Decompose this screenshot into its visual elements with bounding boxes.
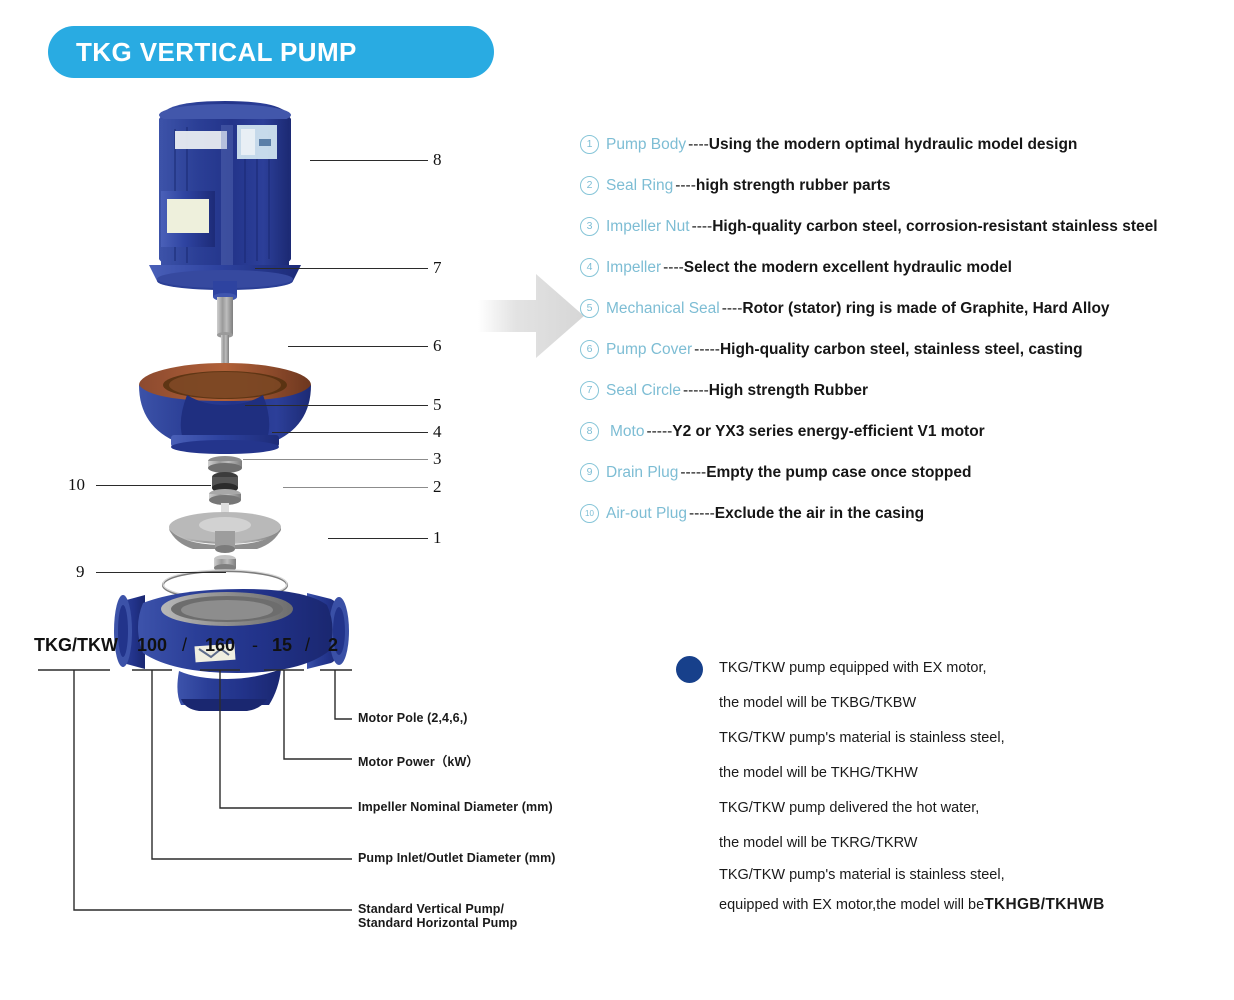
legend-item-1: 1 Pump Body ---- Using the modern optima… bbox=[580, 124, 1230, 165]
leader-line-9 bbox=[96, 572, 226, 573]
legend-part-desc: High strength Rubber bbox=[709, 382, 868, 400]
note-line-2: the model will be TKBG/TKBW bbox=[719, 685, 1216, 720]
legend-dashes: ---- bbox=[663, 259, 684, 277]
right-arrow-icon bbox=[478, 262, 588, 370]
legend-number-icon: 8 bbox=[580, 422, 599, 441]
nomenclature-leader-lines bbox=[0, 625, 620, 965]
poster-canvas: TKG VERTICAL PUMP bbox=[0, 0, 1234, 1000]
leader-line-3 bbox=[243, 459, 428, 460]
legend-dashes: ----- bbox=[646, 423, 672, 441]
legend-number-icon: 6 bbox=[580, 340, 599, 359]
callout-number-2: 2 bbox=[433, 477, 442, 497]
legend-part-name: Impeller bbox=[606, 259, 661, 277]
legend-number-icon: 2 bbox=[580, 176, 599, 195]
legend-number-icon: 7 bbox=[580, 381, 599, 400]
callout-number-4: 4 bbox=[433, 422, 442, 442]
legend-dashes: ---- bbox=[675, 177, 696, 195]
note-line-6: the model will be TKRG/TKRW bbox=[719, 825, 1216, 860]
legend-part-desc: Exclude the air in the casing bbox=[715, 505, 924, 523]
model-variant-notes: TKG/TKW pump equipped with EX motor, the… bbox=[676, 650, 1216, 920]
motor-part bbox=[149, 101, 301, 290]
legend-part-name: Impeller Nut bbox=[606, 218, 690, 236]
impeller-part bbox=[169, 512, 281, 553]
leader-line-6 bbox=[288, 346, 428, 347]
legend-part-name: Air-out Plug bbox=[606, 505, 687, 523]
pump-cover-part bbox=[139, 363, 311, 454]
nomenclature-label-standard-pump: Standard Vertical Pump/ Standard Horizon… bbox=[358, 902, 517, 930]
note-line-4: the model will be TKHG/TKHW bbox=[719, 755, 1216, 790]
note-line-3: TKG/TKW pump's material is stainless ste… bbox=[719, 720, 1216, 755]
callout-number-5: 5 bbox=[433, 395, 442, 415]
leader-line-7 bbox=[255, 268, 428, 269]
nomenclature-label-motor-power: Motor Power（kW） bbox=[358, 751, 479, 770]
note-line-8-text: equipped with EX motor,the model will be bbox=[719, 897, 984, 913]
callout-number-1: 1 bbox=[433, 528, 442, 548]
legend-item-7: 7 Seal Circle ----- High strength Rubber bbox=[580, 370, 1230, 411]
legend-dashes: ---- bbox=[722, 300, 743, 318]
legend-part-name: Pump Cover bbox=[606, 341, 692, 359]
legend-part-name: Seal Circle bbox=[606, 382, 681, 400]
bullet-dot-icon bbox=[676, 656, 703, 683]
leader-line-1 bbox=[328, 538, 428, 539]
leader-line-10 bbox=[96, 485, 211, 486]
legend-dashes: ----- bbox=[680, 464, 706, 482]
callout-number-3: 3 bbox=[433, 449, 442, 469]
legend-part-name: Pump Body bbox=[606, 136, 686, 154]
legend-number-icon: 10 bbox=[580, 504, 599, 523]
legend-part-desc: Empty the pump case once stopped bbox=[706, 464, 971, 482]
leader-line-5 bbox=[245, 405, 428, 406]
page-title: TKG VERTICAL PUMP bbox=[76, 37, 357, 68]
leader-line-8 bbox=[310, 160, 428, 161]
legend-number-icon: 3 bbox=[580, 217, 599, 236]
legend-part-desc: High-quality carbon steel, stainless ste… bbox=[720, 341, 1083, 359]
page-title-banner: TKG VERTICAL PUMP bbox=[48, 26, 494, 78]
legend-number-icon: 4 bbox=[580, 258, 599, 277]
legend-part-name: Moto bbox=[610, 423, 644, 441]
legend-item-5: 5 Mechanical Seal ---- Rotor (stator) ri… bbox=[580, 288, 1230, 329]
note-line-1: TKG/TKW pump equipped with EX motor, bbox=[719, 650, 1216, 685]
callout-number-10: 10 bbox=[68, 475, 85, 495]
legend-dashes: ----- bbox=[683, 382, 709, 400]
legend-part-name: Drain Plug bbox=[606, 464, 678, 482]
legend-part-name: Mechanical Seal bbox=[606, 300, 720, 318]
callout-number-9: 9 bbox=[76, 562, 85, 582]
leader-line-2 bbox=[283, 487, 428, 488]
leader-line-4 bbox=[272, 432, 428, 433]
legend-item-2: 2 Seal Ring ---- high strength rubber pa… bbox=[580, 165, 1230, 206]
callout-number-7: 7 bbox=[433, 258, 442, 278]
legend-item-3: 3 Impeller Nut ---- High-quality carbon … bbox=[580, 206, 1230, 247]
legend-dashes: ----- bbox=[694, 341, 720, 359]
legend-number-icon: 9 bbox=[580, 463, 599, 482]
legend-dashes: ----- bbox=[689, 505, 715, 523]
callout-number-6: 6 bbox=[433, 336, 442, 356]
legend-part-desc: high strength rubber parts bbox=[696, 177, 891, 195]
shaft-seal-circle-part bbox=[213, 281, 237, 363]
note-line-8: equipped with EX motor,the model will be… bbox=[719, 890, 1216, 920]
legend-item-10: 10 Air-out Plug ----- Exclude the air in… bbox=[580, 493, 1230, 534]
legend-item-9: 9 Drain Plug ----- Empty the pump case o… bbox=[580, 452, 1230, 493]
nomenclature-label-motor-pole: Motor Pole (2,4,6,) bbox=[358, 711, 468, 725]
legend-part-desc: Rotor (stator) ring is made of Graphite,… bbox=[742, 300, 1109, 318]
legend-part-desc: High-quality carbon steel, corrosion-res… bbox=[712, 218, 1157, 236]
legend-part-name: Seal Ring bbox=[606, 177, 673, 195]
legend-number-icon: 1 bbox=[580, 135, 599, 154]
model-nomenclature: TKG/TKW 100 / 160 - 15 / 2 bbox=[0, 625, 620, 965]
legend-dashes: ---- bbox=[692, 218, 713, 236]
note-line-8-model: TKHGB/TKHWB bbox=[984, 896, 1104, 914]
note-line-5: TKG/TKW pump delivered the hot water, bbox=[719, 790, 1216, 825]
parts-legend: 1 Pump Body ---- Using the modern optima… bbox=[580, 124, 1230, 534]
nomenclature-label-impeller-diameter: Impeller Nominal Diameter (mm) bbox=[358, 800, 553, 814]
legend-number-icon: 5 bbox=[580, 299, 599, 318]
legend-item-6: 6 Pump Cover ----- High-quality carbon s… bbox=[580, 329, 1230, 370]
legend-dashes: ---- bbox=[688, 136, 709, 154]
legend-part-desc: Using the modern optimal hydraulic model… bbox=[709, 136, 1078, 154]
legend-part-desc: Select the modern excellent hydraulic mo… bbox=[684, 259, 1012, 277]
legend-part-desc: Y2 or YX3 series energy-efficient V1 mot… bbox=[672, 423, 984, 441]
nomenclature-label-standard-pump-line1: Standard Vertical Pump/ bbox=[358, 902, 517, 916]
legend-item-8: 8 Moto ----- Y2 or YX3 series energy-eff… bbox=[580, 411, 1230, 452]
legend-item-4: 4 Impeller ---- Select the modern excell… bbox=[580, 247, 1230, 288]
callout-number-8: 8 bbox=[433, 150, 442, 170]
note-line-7: TKG/TKW pump's material is stainless ste… bbox=[719, 860, 1216, 890]
nomenclature-label-standard-pump-line2: Standard Horizontal Pump bbox=[358, 916, 517, 930]
exploded-pump-illustration bbox=[95, 95, 455, 595]
nomenclature-label-inlet-outlet: Pump Inlet/Outlet Diameter (mm) bbox=[358, 851, 556, 865]
